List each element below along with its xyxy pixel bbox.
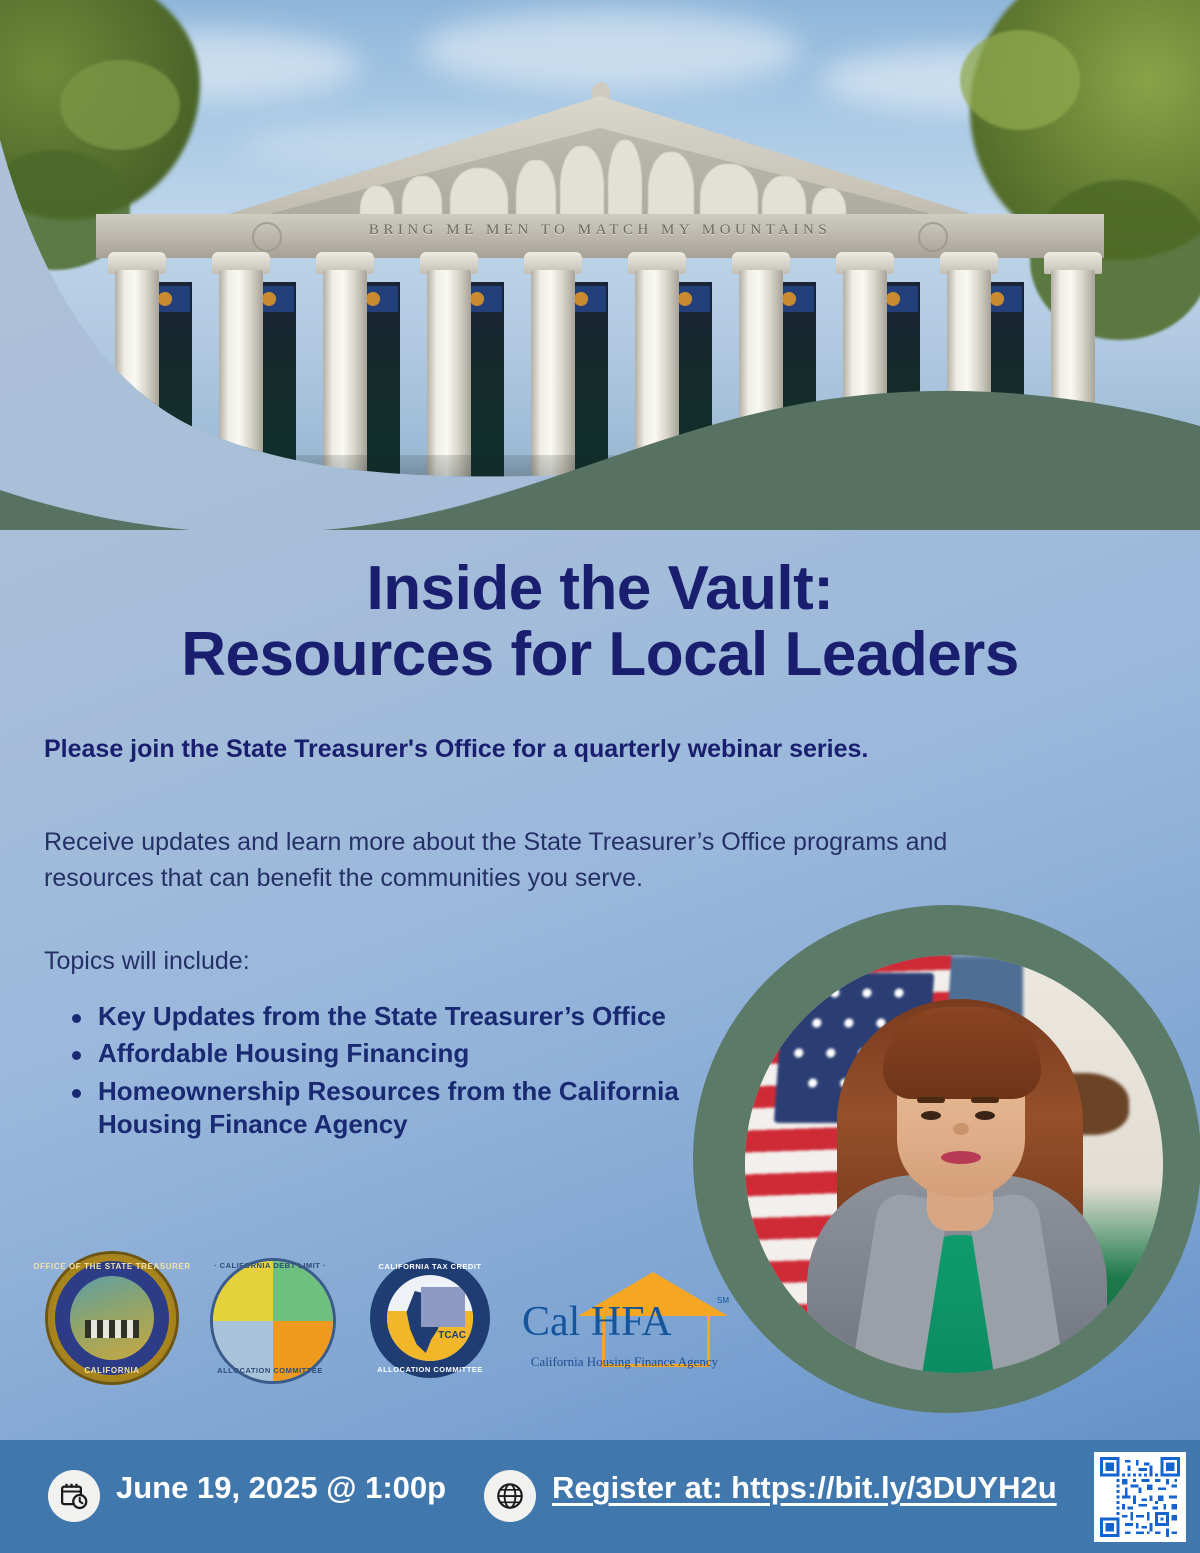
title-line-1: Inside the Vault: — [0, 556, 1200, 622]
calendar-clock-icon — [48, 1470, 100, 1522]
tcac-legend: CALIFORNIA TAX CREDIT ALLOCATION COMMITT… — [370, 1258, 490, 1378]
event-date-time: June 19, 2025 @ 1:00p — [116, 1470, 446, 1506]
topics-intro: Topics will include: — [44, 944, 744, 979]
tree-foliage-left — [60, 60, 180, 150]
rosette-medallion — [918, 222, 948, 252]
portrait-nose — [953, 1123, 969, 1135]
portrait-eye — [975, 1111, 995, 1120]
cdlac-bottom-text: ALLOCATION COMMITTEE — [217, 1366, 323, 1375]
building-inscription: BRING ME MEN TO MATCH MY MOUNTAINS — [0, 222, 1200, 239]
title-line-2: Resources for Local Leaders — [0, 622, 1200, 688]
avatar — [745, 955, 1163, 1373]
calhfa-trademark: SM — [717, 1296, 729, 1305]
seal-legend: OFFICE OF THE STATE TREASURER CALIFORNIA — [48, 1254, 176, 1382]
list-item: Affordable Housing Financing — [98, 1037, 758, 1070]
register-link[interactable]: Register at: https://bit.ly/3DUYH2u — [552, 1470, 1057, 1506]
cloud-shape — [420, 10, 800, 90]
seal-top-text: OFFICE OF THE STATE TREASURER — [33, 1262, 191, 1271]
cdlac-legend: · CALIFORNIA DEBT LIMIT · ALLOCATION COM… — [210, 1258, 330, 1378]
portrait-brow — [917, 1097, 945, 1103]
tcac-bottom-text: ALLOCATION COMMITTEE — [377, 1365, 483, 1374]
tcac-top-text: CALIFORNIA TAX CREDIT — [379, 1262, 482, 1271]
footer-bar: June 19, 2025 @ 1:00p Register at: https… — [0, 1440, 1200, 1553]
qr-code[interactable] — [1094, 1452, 1186, 1542]
flyer-page: BRING ME MEN TO MATCH MY MOUNTAINS — [0, 0, 1200, 1553]
rosette-medallion — [252, 222, 282, 252]
list-item: Key Updates from the State Treasurer’s O… — [98, 1000, 758, 1033]
topics-list: Key Updates from the State Treasurer’s O… — [48, 1000, 758, 1145]
tree-foliage-right — [960, 30, 1080, 130]
list-item: Homeownership Resources from the Califor… — [98, 1075, 758, 1142]
body-paragraph: Receive updates and learn more about the… — [44, 825, 974, 896]
portrait-eye — [921, 1111, 941, 1120]
portrait-hair-top — [883, 1007, 1041, 1099]
calhfa-tagline: California Housing Finance Agency — [522, 1354, 727, 1370]
portrait-lips — [941, 1151, 981, 1164]
calhfa-wordmark: Cal HFA — [522, 1298, 727, 1346]
globe-icon — [484, 1470, 536, 1522]
cdlac-top-text: · CALIFORNIA DEBT LIMIT · — [214, 1261, 326, 1270]
portrait-brow — [971, 1097, 999, 1103]
seal-bottom-text: CALIFORNIA — [84, 1366, 139, 1375]
page-title: Inside the Vault: Resources for Local Le… — [0, 556, 1200, 687]
partner-logos: OFFICE OF THE STATE TREASURER CALIFORNIA… — [38, 1248, 718, 1393]
subheading: Please join the State Treasurer's Office… — [44, 733, 874, 767]
calhfa-logo: Cal HFA SM California Housing Finance Ag… — [522, 1272, 727, 1372]
